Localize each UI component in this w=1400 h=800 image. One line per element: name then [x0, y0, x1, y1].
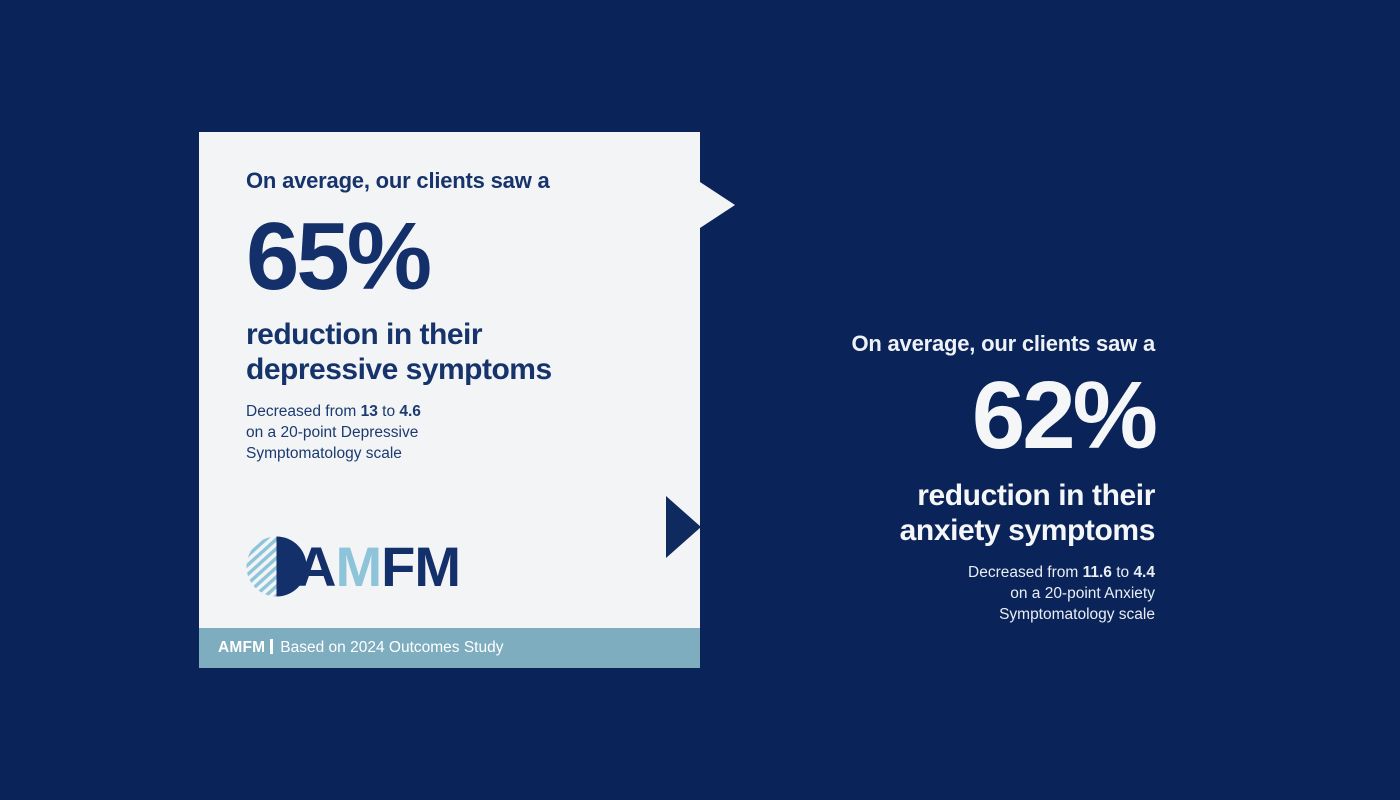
headline-line-1: reduction in their	[917, 479, 1155, 512]
footer-caption: Based on 2024 Outcomes Study	[280, 639, 503, 656]
anxiety-stat-panel: On average, our clients saw a 62% reduct…	[755, 330, 1155, 625]
subnote-line-2: on a 20-point Depressive	[246, 424, 418, 441]
headline-line-2: anxiety symptoms	[755, 513, 1155, 548]
footer-brand: AMFM	[218, 639, 265, 656]
anxiety-reduction-percent: 62%	[755, 366, 1155, 466]
depression-subnote: Decreased from 13 to 4.6on a 20-point De…	[246, 401, 666, 464]
headline-line-1: reduction in their	[246, 318, 482, 351]
logo-letter-m2: M	[414, 535, 460, 598]
infographic-stage: On average, our clients saw a 65% reduct…	[0, 0, 1400, 800]
card-eyebrow-text: On average, our clients saw a	[246, 167, 666, 195]
logo-letter-f: F	[381, 535, 414, 598]
headline-line-2: depressive symptoms	[246, 352, 666, 387]
subnote-to-value: 4.4	[1133, 564, 1155, 581]
footer-text: AMFMBased on 2024 Outcomes Study	[218, 639, 503, 657]
amfm-wordmark: AMFM	[296, 539, 460, 595]
anxiety-stat-number: 62	[972, 362, 1073, 469]
card-body: On average, our clients saw a 65% reduct…	[199, 132, 700, 628]
card-content: On average, our clients saw a 65% reduct…	[246, 167, 666, 464]
footer-divider	[270, 639, 273, 654]
subnote-middle: to	[378, 403, 400, 420]
anxiety-headline: reduction in theiranxiety symptoms	[755, 478, 1155, 548]
subnote-to-value: 4.6	[399, 403, 421, 420]
subnote-line-2: on a 20-point Anxiety	[1010, 585, 1155, 602]
bubble-notch-inward	[666, 496, 701, 558]
amfm-circle-mark	[246, 536, 307, 597]
amfm-logo: AMFM	[246, 536, 460, 597]
subnote-prefix: Decreased from	[968, 564, 1083, 581]
percent-symbol: %	[347, 203, 428, 310]
depression-stat-card: On average, our clients saw a 65% reduct…	[199, 132, 700, 668]
subnote-prefix: Decreased from	[246, 403, 361, 420]
logo-letter-m1: M	[335, 535, 381, 598]
subnote-line-3: Symptomatology scale	[246, 445, 402, 462]
anxiety-subnote: Decreased from 11.6 to 4.4on a 20-point …	[755, 562, 1155, 625]
subnote-from-value: 11.6	[1083, 564, 1112, 581]
source-footer-bar: AMFMBased on 2024 Outcomes Study	[199, 628, 700, 668]
depression-stat-number: 65	[246, 203, 347, 310]
subnote-line-3: Symptomatology scale	[999, 606, 1155, 623]
bubble-tail-outward	[700, 182, 735, 228]
subnote-middle: to	[1112, 564, 1134, 581]
depression-reduction-percent: 65%	[246, 207, 666, 307]
depression-headline: reduction in theirdepressive symptoms	[246, 317, 666, 387]
panel-eyebrow-text: On average, our clients saw a	[755, 330, 1155, 358]
subnote-from-value: 13	[361, 403, 378, 420]
percent-symbol: %	[1073, 362, 1155, 469]
